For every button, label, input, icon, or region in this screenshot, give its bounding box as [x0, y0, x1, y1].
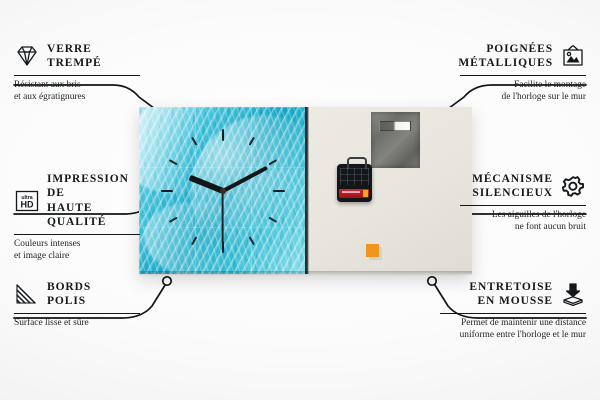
callout-divider [460, 75, 586, 76]
battery [339, 189, 369, 198]
diamond-icon [14, 44, 40, 68]
callout-divider [14, 234, 140, 235]
gear-icon [560, 174, 586, 198]
clock-mechanism-box [337, 164, 372, 202]
hanger-slot [379, 121, 411, 131]
clock-tick [222, 129, 224, 191]
callout-verre-trempe: VERRE TREMPÉ Résistant aux bris et aux é… [14, 42, 140, 103]
callout-title: VERRE TREMPÉ [47, 42, 102, 71]
callout-subtitle: Surface lisse et sûre [14, 317, 140, 329]
mechanism-vents [340, 168, 369, 185]
clock-front-panel [139, 107, 306, 274]
callout-poignees-metalliques: POIGNÉES MÉTALLIQUES Facilite le montage… [460, 42, 586, 103]
svg-text:HD: HD [21, 200, 34, 210]
metal-hanger-plate [371, 112, 420, 168]
picture-hanger-icon [560, 44, 586, 68]
callout-divider [14, 313, 140, 314]
product-shadow [139, 271, 472, 276]
callout-title: ENTRETOISE EN MOUSSE [469, 280, 553, 309]
callout-title: POIGNÉES MÉTALLIQUES [458, 42, 553, 71]
clock-back-panel [309, 107, 472, 274]
clock-tick [223, 190, 285, 192]
press-down-pad-icon [560, 282, 586, 306]
callout-divider [460, 205, 586, 206]
callout-subtitle: Résistant aux bris et aux égratignures [14, 79, 140, 103]
callout-bords-polis: BORDS POLIS Surface lisse et sûre [14, 280, 140, 329]
foam-spacer [366, 244, 379, 257]
callout-subtitle: Couleurs intenses et image claire [14, 238, 140, 262]
clock-center-cap [220, 188, 226, 194]
callout-impression-haute-qualite: ultra HD IMPRESSION DE HAUTE QUALITÉ Cou… [14, 172, 140, 262]
callout-entretoise-en-mousse: ENTRETOISE EN MOUSSE Permet de maintenir… [440, 280, 586, 341]
callout-subtitle: Facilite le montage de l'horloge sur le … [460, 79, 586, 103]
callout-subtitle: Les aiguilles de l'horloge ne font aucun… [460, 209, 586, 233]
product-image [139, 107, 472, 274]
callout-divider [14, 75, 140, 76]
connector-dot-bords-polis [163, 277, 171, 285]
callout-subtitle: Permet de maintenir une distance uniform… [440, 317, 586, 341]
ultra-hd-icon: ultra HD [14, 189, 40, 213]
callout-title: IMPRESSION DE HAUTE QUALITÉ [47, 172, 140, 230]
callout-title: BORDS POLIS [47, 280, 91, 309]
callout-divider [440, 313, 586, 314]
clock-second-hand [222, 191, 224, 243]
callout-mecanisme-silencieux: MÉCANISME SILENCIEUX Les aiguilles de l'… [460, 172, 586, 233]
infographic-canvas: VERRE TREMPÉ Résistant aux bris et aux é… [0, 0, 600, 400]
polished-edge-icon [14, 282, 40, 306]
clock-face [139, 107, 306, 274]
callout-title: MÉCANISME SILENCIEUX [472, 172, 553, 201]
connector-dot-entretoise [428, 277, 436, 285]
